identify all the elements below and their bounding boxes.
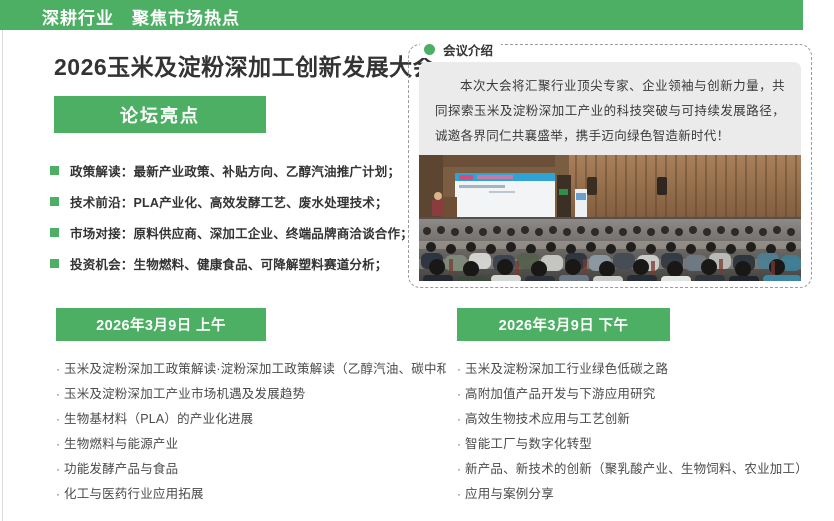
bullet-dot-icon: ·	[457, 459, 461, 479]
agenda-header-morning: 2026年3月9日 上午	[56, 308, 266, 341]
bullet-dot-icon: ·	[56, 384, 60, 404]
green-square-bullet-icon	[50, 228, 59, 237]
bullet-dot-icon: ·	[56, 484, 60, 504]
list-item: · 玉米及淀粉深加工产业市场机遇及发展趋势	[56, 384, 446, 409]
agenda-item-text: 化工与医药行业应用拓展	[64, 484, 204, 504]
agenda-item-text: 玉米及淀粉深加工行业绿色低碳之路	[465, 359, 668, 379]
agenda-item-text: 新产品、新技术的创新（聚乳酸产业、生物饲料、农业加工）	[465, 459, 808, 479]
bullet-dot-icon: ·	[56, 434, 60, 454]
page-title: 2026玉米及淀粉深加工创新发展大会	[54, 48, 436, 82]
agenda-item-text: 生物燃料与能源产业	[64, 434, 178, 454]
highlight-item-text: 投资机会：生物燃料、健康食品、可降解塑料赛道分析；	[70, 254, 388, 273]
bullet-dot-icon: ·	[457, 434, 461, 454]
green-square-bullet-icon	[50, 197, 59, 206]
bullet-dot-icon: ·	[56, 359, 60, 379]
bullet-dot-icon: ·	[56, 459, 60, 479]
agenda-list-morning: · 玉米及淀粉深加工政策解读·淀粉深加工政策解读（乙醇汽油、碳中和） · 玉米及…	[56, 359, 446, 509]
green-dot-icon	[424, 44, 435, 55]
agenda-header-morning-label: 2026年3月9日 上午	[96, 314, 226, 335]
agenda-header-afternoon: 2026年3月9日 下午	[457, 308, 670, 341]
bullet-dot-icon: ·	[457, 384, 461, 404]
agenda-item-text: 玉米及淀粉深加工政策解读·淀粉深加工政策解读（乙醇汽油、碳中和）	[64, 359, 446, 379]
conference-photo-image	[419, 155, 801, 281]
ribbon-left-text: 深耕行业	[42, 9, 114, 28]
agenda-list-afternoon: · 玉米及淀粉深加工行业绿色低碳之路 · 高附加值产品开发与下游应用研究 · 高…	[457, 359, 834, 509]
list-item: · 应用与案例分享	[457, 484, 834, 509]
list-item: · 新产品、新技术的创新（聚乳酸产业、生物饲料、农业加工）	[457, 459, 834, 484]
ribbon-text: 深耕行业聚焦市场热点	[42, 4, 240, 29]
agenda-item-text: 智能工厂与数字化转型	[465, 434, 592, 454]
conference-photo	[419, 155, 801, 281]
conference-intro-legend: 会议介绍	[420, 40, 501, 58]
agenda-item-text: 高附加值产品开发与下游应用研究	[465, 384, 656, 404]
agenda-item-text: 生物基材料（PLA）的产业化进展	[64, 409, 253, 429]
list-item: · 智能工厂与数字化转型	[457, 434, 834, 459]
forum-highlights-tag: 论坛亮点	[54, 96, 266, 133]
green-square-bullet-icon	[50, 166, 59, 175]
list-item: 市场对接：原料供应商、深加工企业、终端品牌商洽谈合作；	[50, 217, 400, 248]
bullet-dot-icon: ·	[457, 484, 461, 504]
agenda-item-text: 功能发酵产品与食品	[64, 459, 178, 479]
highlight-item-text: 市场对接：原料供应商、深加工企业、终端品牌商洽谈合作；	[70, 223, 413, 242]
list-item: 技术前沿：PLA产业化、高效发酵工艺、废水处理技术；	[50, 186, 400, 217]
list-item: · 功能发酵产品与食品	[56, 459, 446, 484]
bullet-dot-icon: ·	[457, 409, 461, 429]
agenda-header-afternoon-label: 2026年3月9日 下午	[499, 314, 629, 335]
top-ribbon-bar: 深耕行业聚焦市场热点	[0, 0, 803, 30]
list-item: · 高效生物技术应用与工艺创新	[457, 409, 834, 434]
agenda-column-afternoon: 2026年3月9日 下午 · 玉米及淀粉深加工行业绿色低碳之路 · 高附加值产品…	[457, 308, 834, 509]
page-left-rule	[2, 30, 3, 521]
conference-intro-legend-label: 会议介绍	[443, 40, 493, 59]
highlight-item-text: 政策解读：最新产业政策、补贴方向、乙醇汽油推广计划；	[70, 161, 400, 180]
agenda-item-text: 应用与案例分享	[465, 484, 554, 504]
list-item: · 玉米及淀粉深加工行业绿色低碳之路	[457, 359, 834, 384]
list-item: · 生物燃料与能源产业	[56, 434, 446, 459]
forum-highlights-list: 政策解读：最新产业政策、补贴方向、乙醇汽油推广计划； 技术前沿：PLA产业化、高…	[50, 155, 400, 279]
green-square-bullet-icon	[50, 259, 59, 268]
highlight-item-text: 技术前沿：PLA产业化、高效发酵工艺、废水处理技术；	[70, 192, 388, 211]
bullet-dot-icon: ·	[457, 359, 461, 379]
agenda-column-morning: 2026年3月9日 上午 · 玉米及淀粉深加工政策解读·淀粉深加工政策解读（乙醇…	[56, 308, 446, 509]
ribbon-right-text: 聚焦市场热点	[132, 9, 240, 28]
agenda-item-text: 玉米及淀粉深加工产业市场机遇及发展趋势	[64, 384, 305, 404]
forum-highlights-tag-label: 论坛亮点	[120, 102, 200, 128]
list-item: · 化工与医药行业应用拓展	[56, 484, 446, 509]
conference-intro-paragraph: 本次大会将汇聚行业顶尖专家、企业领袖与创新力量，共同探索玉米及淀粉深加工产业的科…	[419, 62, 801, 162]
list-item: 投资机会：生物燃料、健康食品、可降解塑料赛道分析；	[50, 248, 400, 279]
list-item: · 玉米及淀粉深加工政策解读·淀粉深加工政策解读（乙醇汽油、碳中和）	[56, 359, 446, 384]
bullet-dot-icon: ·	[56, 409, 60, 429]
list-item: 政策解读：最新产业政策、补贴方向、乙醇汽油推广计划；	[50, 155, 400, 186]
agenda-item-text: 高效生物技术应用与工艺创新	[465, 409, 630, 429]
list-item: · 高附加值产品开发与下游应用研究	[457, 384, 834, 409]
list-item: · 生物基材料（PLA）的产业化进展	[56, 409, 446, 434]
